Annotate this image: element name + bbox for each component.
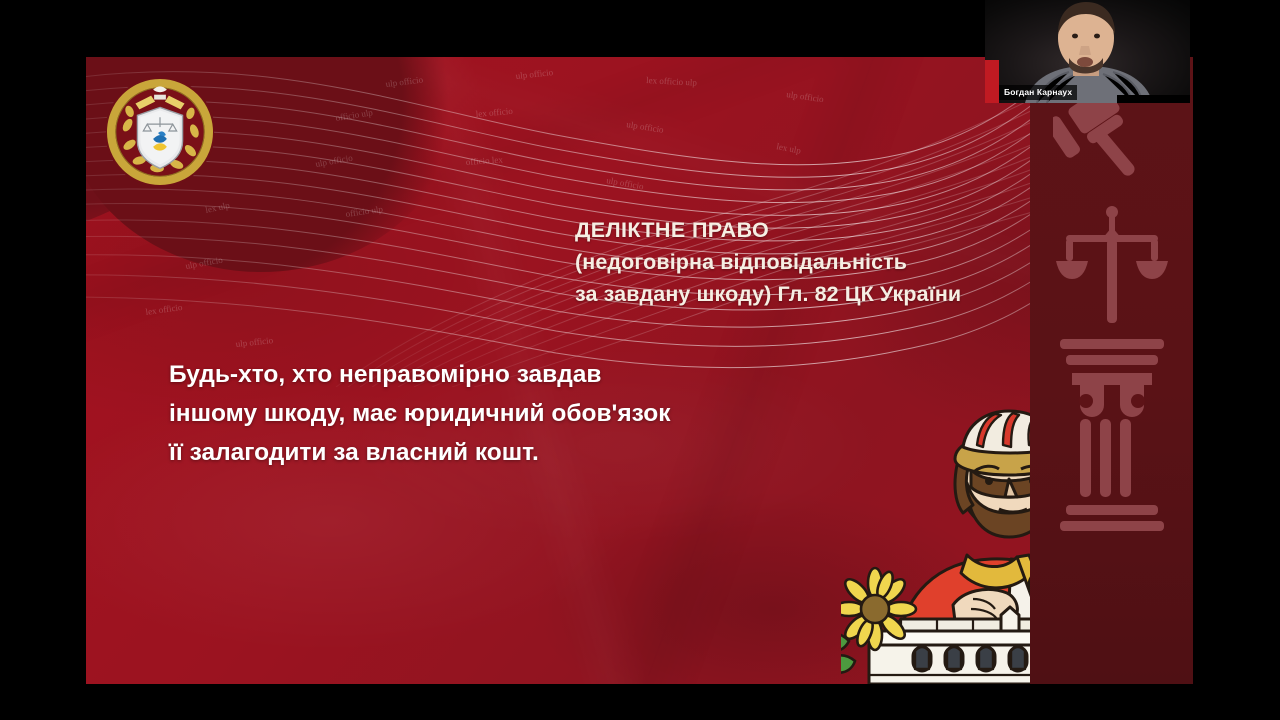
svg-text:ulp officio: ulp officio: [515, 67, 554, 81]
webcam-red-edge: [985, 60, 999, 103]
svg-text:ulp officio: ulp officio: [786, 89, 825, 104]
slide-title-line3: за завдану шкоду) Гл. 82 ЦК України: [575, 278, 1005, 310]
slide-body-line2: іншому шкоду, має юридичний обов'язок: [169, 394, 849, 433]
svg-text:ulp officio: ulp officio: [315, 153, 354, 169]
svg-text:ulp officio: ulp officio: [606, 175, 645, 191]
slide-sidebar: [1030, 57, 1193, 684]
slide-body-line3: її залагодити за власний кошт.: [169, 433, 849, 472]
webcam-tile[interactable]: Богдан Карнаух: [985, 0, 1190, 103]
ionic-column-icon: [1056, 335, 1168, 565]
svg-text:ulp officio: ulp officio: [626, 119, 665, 135]
university-emblem: [106, 78, 214, 186]
svg-text:officio ulp: officio ulp: [335, 107, 374, 123]
slide-title-line1: ДЕЛІКТНЕ ПРАВО: [575, 214, 1005, 246]
svg-text:lex officio ulp: lex officio ulp: [646, 75, 698, 88]
slide-body-text: Будь-хто, хто неправомірно завдав іншому…: [169, 355, 849, 472]
svg-text:officio ulp: officio ulp: [345, 204, 384, 219]
participant-name-label: Богдан Карнаух: [999, 85, 1077, 100]
svg-text:ulp officio: ulp officio: [385, 74, 424, 89]
scales-of-justice-icon: [1056, 205, 1168, 323]
slide-title-line2: (недоговірна відповідальність: [575, 246, 1005, 278]
slide-body-line1: Будь-хто, хто неправомірно завдав: [169, 355, 849, 394]
svg-text:lex ulp: lex ulp: [204, 200, 231, 215]
column-icon-wrap: [1030, 335, 1193, 565]
svg-text:lex officio: lex officio: [145, 302, 184, 317]
svg-text:lex ulp: lex ulp: [776, 141, 803, 156]
slide-title: ДЕЛІКТНЕ ПРАВО (недоговірна відповідальн…: [575, 214, 1005, 310]
svg-text:ulp officio: ulp officio: [235, 335, 274, 349]
screen: ulp officio ulp officio lex officio ulp …: [0, 0, 1280, 720]
presentation-slide: ulp officio ulp officio lex officio ulp …: [86, 57, 1193, 684]
svg-text:lex officio: lex officio: [475, 106, 513, 119]
webcam-black-edge: [1117, 95, 1190, 103]
scales-icon-wrap: [1030, 205, 1193, 323]
